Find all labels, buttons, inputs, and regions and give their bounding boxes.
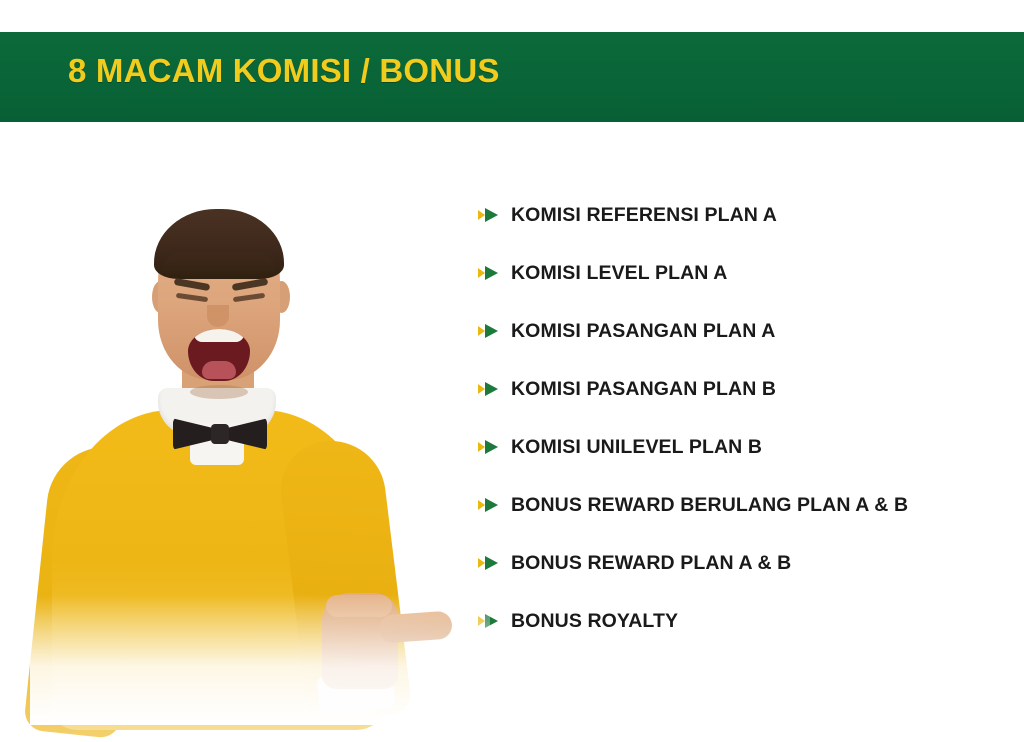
knuckles xyxy=(326,595,392,617)
arrow-bullet-small-triangle xyxy=(478,500,485,510)
arrow-bullet-icon xyxy=(478,324,502,339)
list-item: KOMISI REFERENSI PLAN A xyxy=(478,186,998,244)
list-item-label: BONUS REWARD BERULANG PLAN A & B xyxy=(511,494,908,517)
hair xyxy=(154,209,284,279)
tongue xyxy=(202,361,236,379)
arrow-bullet-small-triangle xyxy=(478,442,485,452)
arrow-bullet-icon xyxy=(478,208,502,223)
commission-bonus-list: KOMISI REFERENSI PLAN A KOMISI LEVEL PLA… xyxy=(478,186,998,650)
list-item-label: KOMISI UNILEVEL PLAN B xyxy=(511,436,762,459)
page-title: 8 MACAM KOMISI / BONUS xyxy=(68,52,500,90)
list-item-label: KOMISI REFERENSI PLAN A xyxy=(511,204,777,227)
arrow-bullet-small-triangle xyxy=(478,558,485,568)
arrow-bullet-small-triangle xyxy=(478,326,485,336)
open-mouth xyxy=(188,329,250,381)
list-item-label: KOMISI PASANGAN PLAN A xyxy=(511,320,775,343)
arrow-bullet-large-triangle xyxy=(485,266,498,280)
list-item: BONUS REWARD PLAN A & B xyxy=(478,534,998,592)
arrow-bullet-large-triangle xyxy=(485,614,498,628)
bow-tie-knot xyxy=(211,424,229,444)
bow-tie xyxy=(173,417,267,451)
arrow-bullet-large-triangle xyxy=(485,324,498,338)
arrow-bullet-large-triangle xyxy=(485,382,498,396)
list-item: KOMISI PASANGAN PLAN B xyxy=(478,360,998,418)
arrow-bullet-icon xyxy=(478,266,502,281)
arrow-bullet-large-triangle xyxy=(485,556,498,570)
arrow-bullet-large-triangle xyxy=(485,440,498,454)
list-item: BONUS REWARD BERULANG PLAN A & B xyxy=(478,476,998,534)
list-item: BONUS ROYALTY xyxy=(478,592,998,650)
bow-tie-right-wing xyxy=(225,417,267,451)
arrow-bullet-small-triangle xyxy=(478,210,485,220)
arrow-bullet-large-triangle xyxy=(485,208,498,222)
list-item-label: KOMISI LEVEL PLAN A xyxy=(511,262,727,285)
list-item-label: BONUS REWARD PLAN A & B xyxy=(511,552,791,575)
presentation-slide: 8 MACAM KOMISI / BONUS xyxy=(0,0,1024,742)
teeth xyxy=(194,329,244,342)
list-item-label: KOMISI PASANGAN PLAN B xyxy=(511,378,776,401)
arrow-bullet-small-triangle xyxy=(478,616,485,626)
arrow-bullet-icon xyxy=(478,614,502,629)
list-item: KOMISI UNILEVEL PLAN B xyxy=(478,418,998,476)
list-item: KOMISI PASANGAN PLAN A xyxy=(478,302,998,360)
bow-tie-left-wing xyxy=(173,417,215,451)
pointing-thumb xyxy=(379,611,453,644)
arrow-bullet-large-triangle xyxy=(485,498,498,512)
arrow-bullet-icon xyxy=(478,556,502,571)
arrow-bullet-icon xyxy=(478,382,502,397)
arrow-bullet-icon xyxy=(478,498,502,513)
arrow-bullet-small-triangle xyxy=(478,384,485,394)
arrow-bullet-small-triangle xyxy=(478,268,485,278)
arrow-bullet-icon xyxy=(478,440,502,455)
presenter-photo xyxy=(30,195,490,725)
list-item-label: BONUS ROYALTY xyxy=(511,610,678,633)
nose xyxy=(207,305,229,327)
list-item: KOMISI LEVEL PLAN A xyxy=(478,244,998,302)
chin-shadow xyxy=(190,385,248,399)
